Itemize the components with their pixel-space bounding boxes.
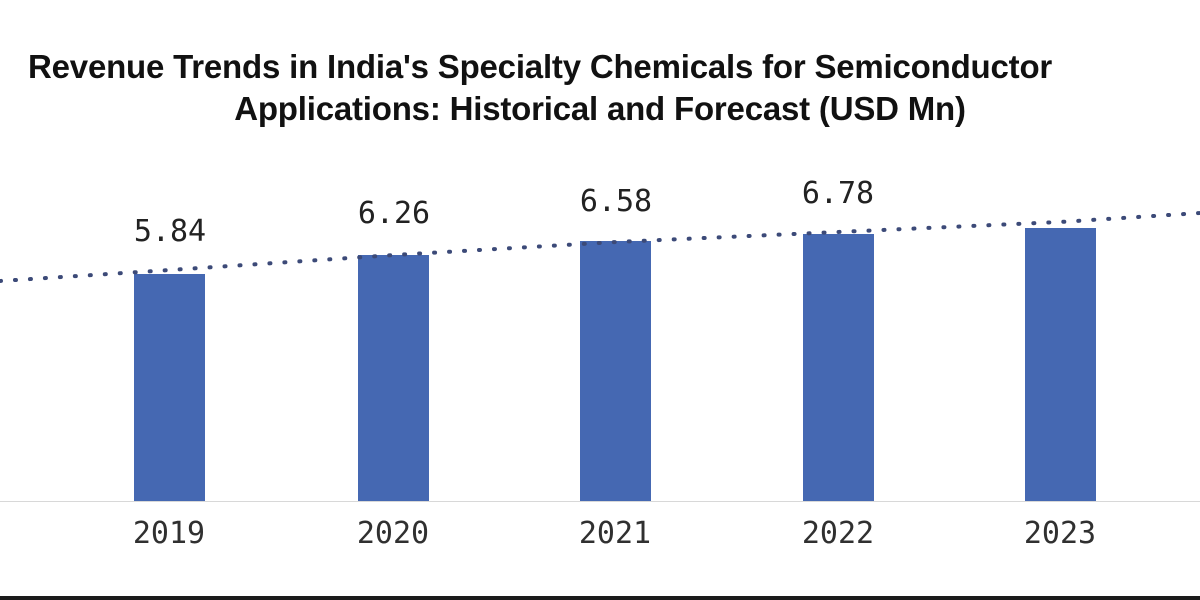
- x-axis-line: [0, 501, 1200, 502]
- bar-value-label-2021: 6.58: [556, 184, 676, 219]
- bottom-border: [0, 596, 1200, 600]
- x-axis-label-2021: 2021: [555, 516, 675, 551]
- bar-2023[interactable]: [1025, 228, 1096, 501]
- bar-2021[interactable]: [580, 241, 651, 501]
- bar-2020[interactable]: [358, 255, 429, 501]
- bar-2022[interactable]: [803, 234, 874, 501]
- bar-value-label-2019: 5.84: [110, 214, 230, 249]
- bar-value-label-2020: 6.26: [334, 196, 454, 231]
- bar-value-label-2022: 6.78: [778, 176, 898, 211]
- chart-container: Revenue Trends in India's Specialty Chem…: [0, 0, 1200, 600]
- x-axis-label-2020: 2020: [333, 516, 453, 551]
- bar-2019[interactable]: [134, 274, 205, 501]
- x-axis-label-2022: 2022: [778, 516, 898, 551]
- x-axis-label-2023: 2023: [1000, 516, 1120, 551]
- x-axis-label-2019: 2019: [109, 516, 229, 551]
- plot-area: 5.846.266.586.78 20192020202120222023: [0, 0, 1200, 600]
